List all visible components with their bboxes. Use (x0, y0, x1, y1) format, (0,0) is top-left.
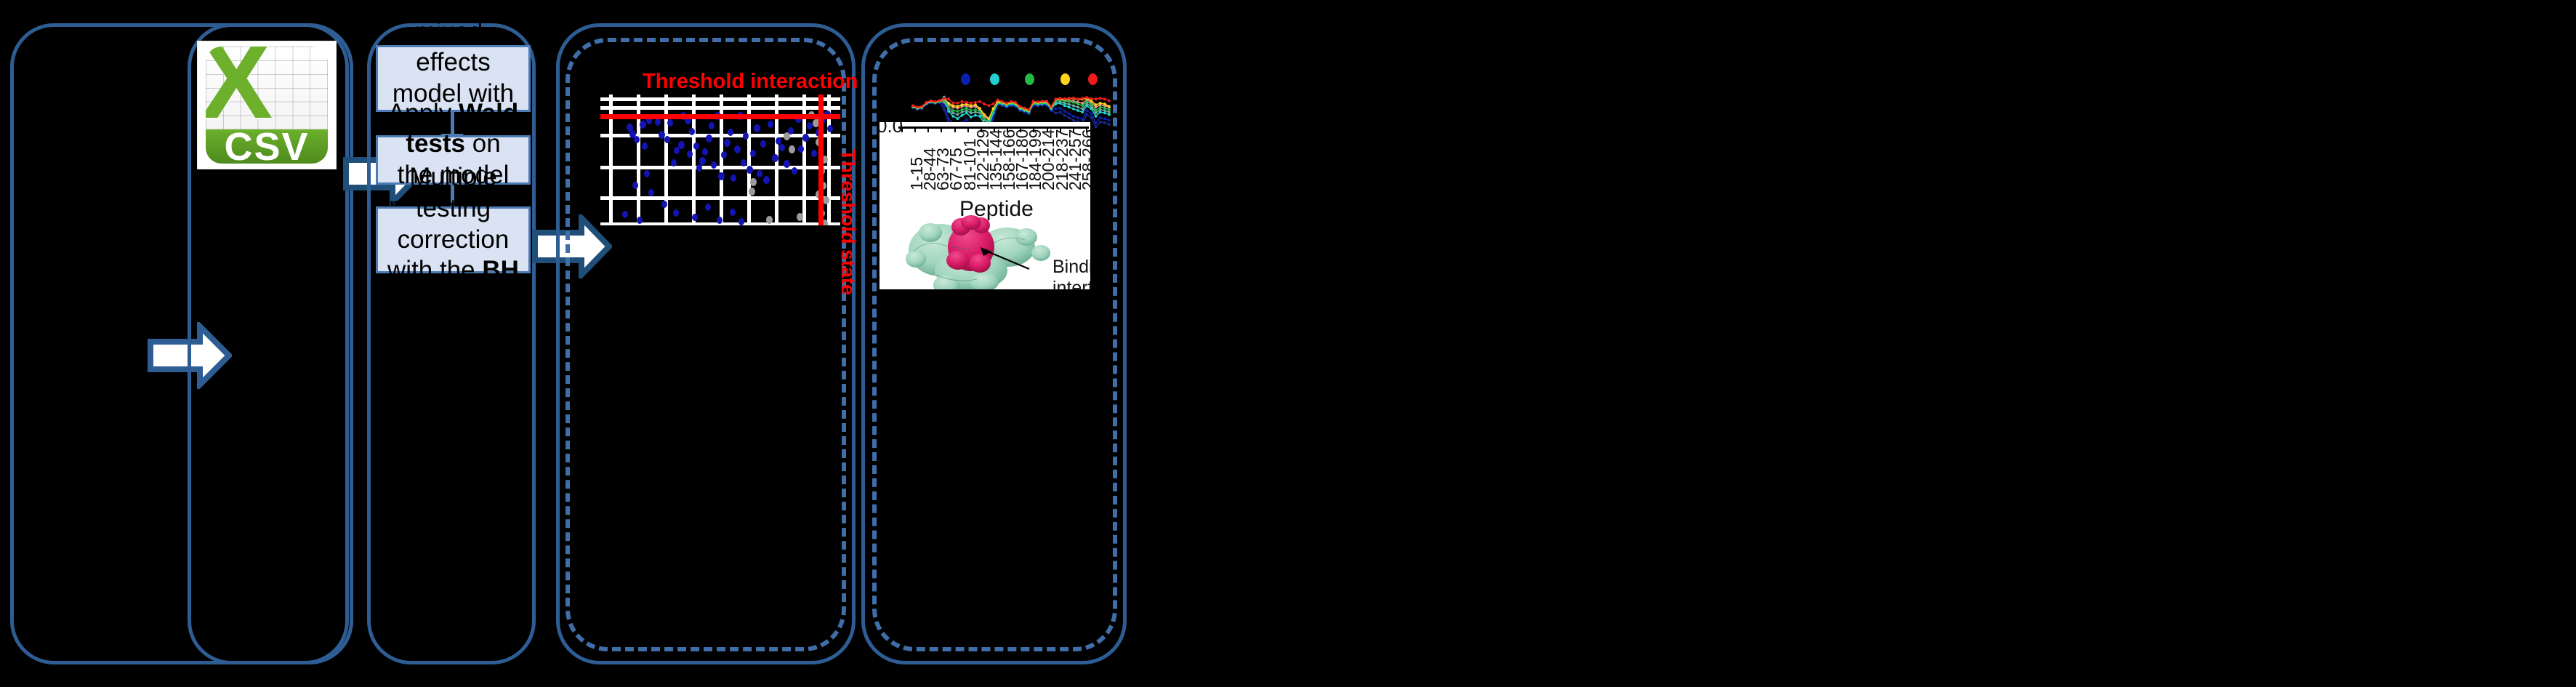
chart-point (987, 104, 990, 107)
chart-point (956, 113, 959, 116)
chart-point (1085, 100, 1088, 103)
chart-point (938, 99, 941, 102)
chart-point (978, 100, 981, 103)
chart-point (1068, 100, 1071, 103)
chart-point (1090, 103, 1093, 106)
chart-point (970, 116, 973, 118)
chart-point (978, 107, 981, 110)
chart-point (1076, 103, 1079, 105)
chart-point (1095, 115, 1098, 118)
chart-point (911, 104, 914, 107)
chart-point (947, 117, 950, 120)
chart-point (965, 107, 968, 110)
chart-point (965, 101, 968, 104)
chart-point (1059, 107, 1062, 110)
chart-point (1063, 110, 1066, 113)
chart-point (1095, 109, 1098, 112)
chart-point (1063, 97, 1066, 100)
threshold-interaction-label: Threshold interaction (643, 70, 858, 94)
chart-point (974, 103, 977, 106)
scatter-plot[interactable] (600, 95, 840, 225)
chart-point (943, 104, 946, 107)
chart-point (1103, 97, 1106, 100)
chart-point (1010, 100, 1013, 103)
chart-point (987, 117, 990, 120)
chart-point (1099, 116, 1102, 119)
step-multiple-testing-text: Multiple testing correction with the BH … (385, 162, 521, 317)
chart-point (961, 111, 964, 113)
figure-canvas: X CSV Fit a linear mixed- effects model … (0, 0, 2576, 687)
chart-point (1072, 119, 1075, 122)
chart-point (1108, 100, 1111, 103)
chart-point (1059, 102, 1062, 105)
threshold-state-line (818, 95, 824, 225)
chart-point (1099, 102, 1102, 105)
chart-point (983, 103, 986, 105)
chart-point (1081, 118, 1084, 121)
chart-point (1095, 121, 1098, 124)
chart-point (1059, 97, 1062, 100)
legend-dot-green (1025, 73, 1034, 85)
structure-card: 1-1528-4463-7367-7581-101122-129135-1441… (880, 122, 1090, 289)
chart-point (1076, 116, 1079, 119)
chart-point (1085, 104, 1088, 107)
chart-point (1028, 108, 1031, 111)
chart-point (956, 117, 959, 120)
chart-point (916, 106, 919, 109)
binding-interface-annotation: Binding interface (1052, 257, 1090, 289)
csv-label-text: CSV (224, 124, 309, 164)
chart-point (1095, 103, 1098, 106)
chart-point (947, 97, 950, 100)
chart-point (992, 103, 995, 105)
chart-point (1103, 111, 1106, 114)
chart-point (983, 113, 986, 116)
chart-point (1108, 111, 1111, 113)
peptide-tick-label: 258-266 (1079, 129, 1090, 190)
chart-point (1045, 100, 1048, 103)
chart-point (1072, 97, 1075, 100)
peptide-tick (941, 126, 942, 132)
chart-point (1005, 102, 1008, 105)
chart-point (961, 103, 964, 106)
chart-point (974, 108, 977, 111)
peptide-tick (927, 126, 929, 132)
chart-point (956, 102, 959, 105)
csv-icon-body: X CSV (206, 47, 327, 164)
chart-point (1081, 97, 1084, 100)
chart-point (1099, 121, 1102, 124)
chart-point (934, 100, 937, 103)
chart-point (1103, 103, 1106, 105)
chart-point (1063, 104, 1066, 107)
chart-point (1054, 108, 1057, 111)
chart-point (1050, 105, 1052, 108)
chart-point (992, 107, 995, 110)
legend-dot-blue (961, 73, 970, 85)
chart-point (1054, 111, 1057, 114)
chart-point (1103, 121, 1106, 124)
chart-point (1081, 104, 1084, 107)
chart-point (1068, 113, 1071, 116)
chart-point (1108, 113, 1111, 116)
chart-point (1063, 114, 1066, 117)
chart-point (1076, 97, 1079, 100)
chart-point (1090, 108, 1093, 111)
chart-point (1095, 97, 1098, 100)
chart-point (956, 110, 959, 113)
chart-point (965, 111, 968, 114)
peptide-tick (954, 126, 956, 132)
chart-point (1072, 104, 1075, 107)
binding-interface-line1: Binding (1052, 257, 1090, 278)
chart-point (1076, 106, 1079, 109)
chart-point (951, 111, 954, 114)
chart-point (951, 109, 954, 112)
chart-point (965, 118, 968, 121)
chart-point (1081, 111, 1084, 113)
legend-dot-yellow (1060, 73, 1070, 85)
chart-point (1099, 111, 1102, 113)
chart-point (956, 105, 959, 108)
chart-point (1090, 113, 1093, 116)
chart-point (1108, 108, 1111, 111)
threshold-interaction-line (600, 114, 840, 119)
chart-point (970, 104, 973, 107)
chart-point (1108, 119, 1111, 122)
step-multiple-testing-box[interactable]: Multiple testing correction with the BH … (376, 206, 531, 273)
chart-point (974, 101, 977, 104)
chart-point (983, 117, 986, 120)
csv-file-icon[interactable]: X CSV (198, 41, 336, 169)
chart-point (951, 104, 954, 107)
chart-point (1085, 96, 1088, 99)
chart-point (1037, 100, 1039, 103)
chart-point (1068, 116, 1071, 119)
chart-point (1072, 115, 1075, 118)
binding-interface-line2: interface (1052, 278, 1090, 289)
chart-point (1054, 97, 1057, 100)
chart-point (997, 99, 999, 102)
peptide-tick (967, 126, 969, 132)
chart-point (1059, 111, 1062, 113)
chart-point (961, 100, 964, 103)
chart-point (947, 102, 950, 105)
chart-point (970, 102, 973, 105)
chart-point (1068, 97, 1071, 100)
chart-point (961, 108, 964, 111)
chart-point (961, 114, 964, 117)
chart-point (1099, 97, 1102, 100)
chart-point (965, 109, 968, 112)
chart-point (1108, 123, 1111, 126)
chart-point (1103, 109, 1106, 112)
legend-dot-red (1088, 73, 1098, 85)
chart-point (1068, 106, 1071, 109)
chart-point (974, 114, 977, 117)
chart-point (1041, 100, 1044, 103)
chart-point (1099, 108, 1102, 111)
chart-point (1103, 107, 1106, 110)
chart-point (947, 110, 950, 113)
chart-point (1032, 100, 1035, 103)
chart-point (1085, 109, 1088, 112)
chart-point (947, 106, 950, 109)
chart-point (1072, 101, 1075, 104)
chart-point (943, 97, 946, 100)
protein-structure-image (898, 215, 1066, 289)
csv-x-letter: X (209, 47, 265, 117)
chart-point (978, 115, 981, 118)
chart-point (951, 115, 954, 118)
csv-label-band: CSV (206, 129, 327, 164)
chart-point (974, 111, 977, 113)
chart-point (1090, 97, 1093, 100)
chart-point (1014, 101, 1017, 104)
chart-point (1076, 109, 1079, 112)
chart-point (1099, 106, 1102, 109)
threshold-state-label: Threshold state (837, 149, 859, 295)
chart-point (951, 101, 954, 104)
chart-point (1068, 103, 1071, 106)
peptide-y-tick-label: 0.0 (880, 122, 903, 137)
chart-point (1095, 126, 1098, 129)
chart-point (920, 105, 923, 108)
chart-point (1001, 100, 1004, 103)
chart-point (1023, 107, 1026, 110)
chart-point (970, 111, 973, 114)
legend-dot-cyan (990, 73, 999, 85)
chart-point (970, 109, 973, 112)
chart-point (1108, 105, 1111, 108)
chart-point (930, 100, 933, 103)
peptide-tick (914, 126, 916, 132)
chart-point (1103, 117, 1106, 120)
chart-point (925, 101, 928, 104)
chart-point (1072, 108, 1075, 111)
chart-point (1018, 105, 1021, 108)
